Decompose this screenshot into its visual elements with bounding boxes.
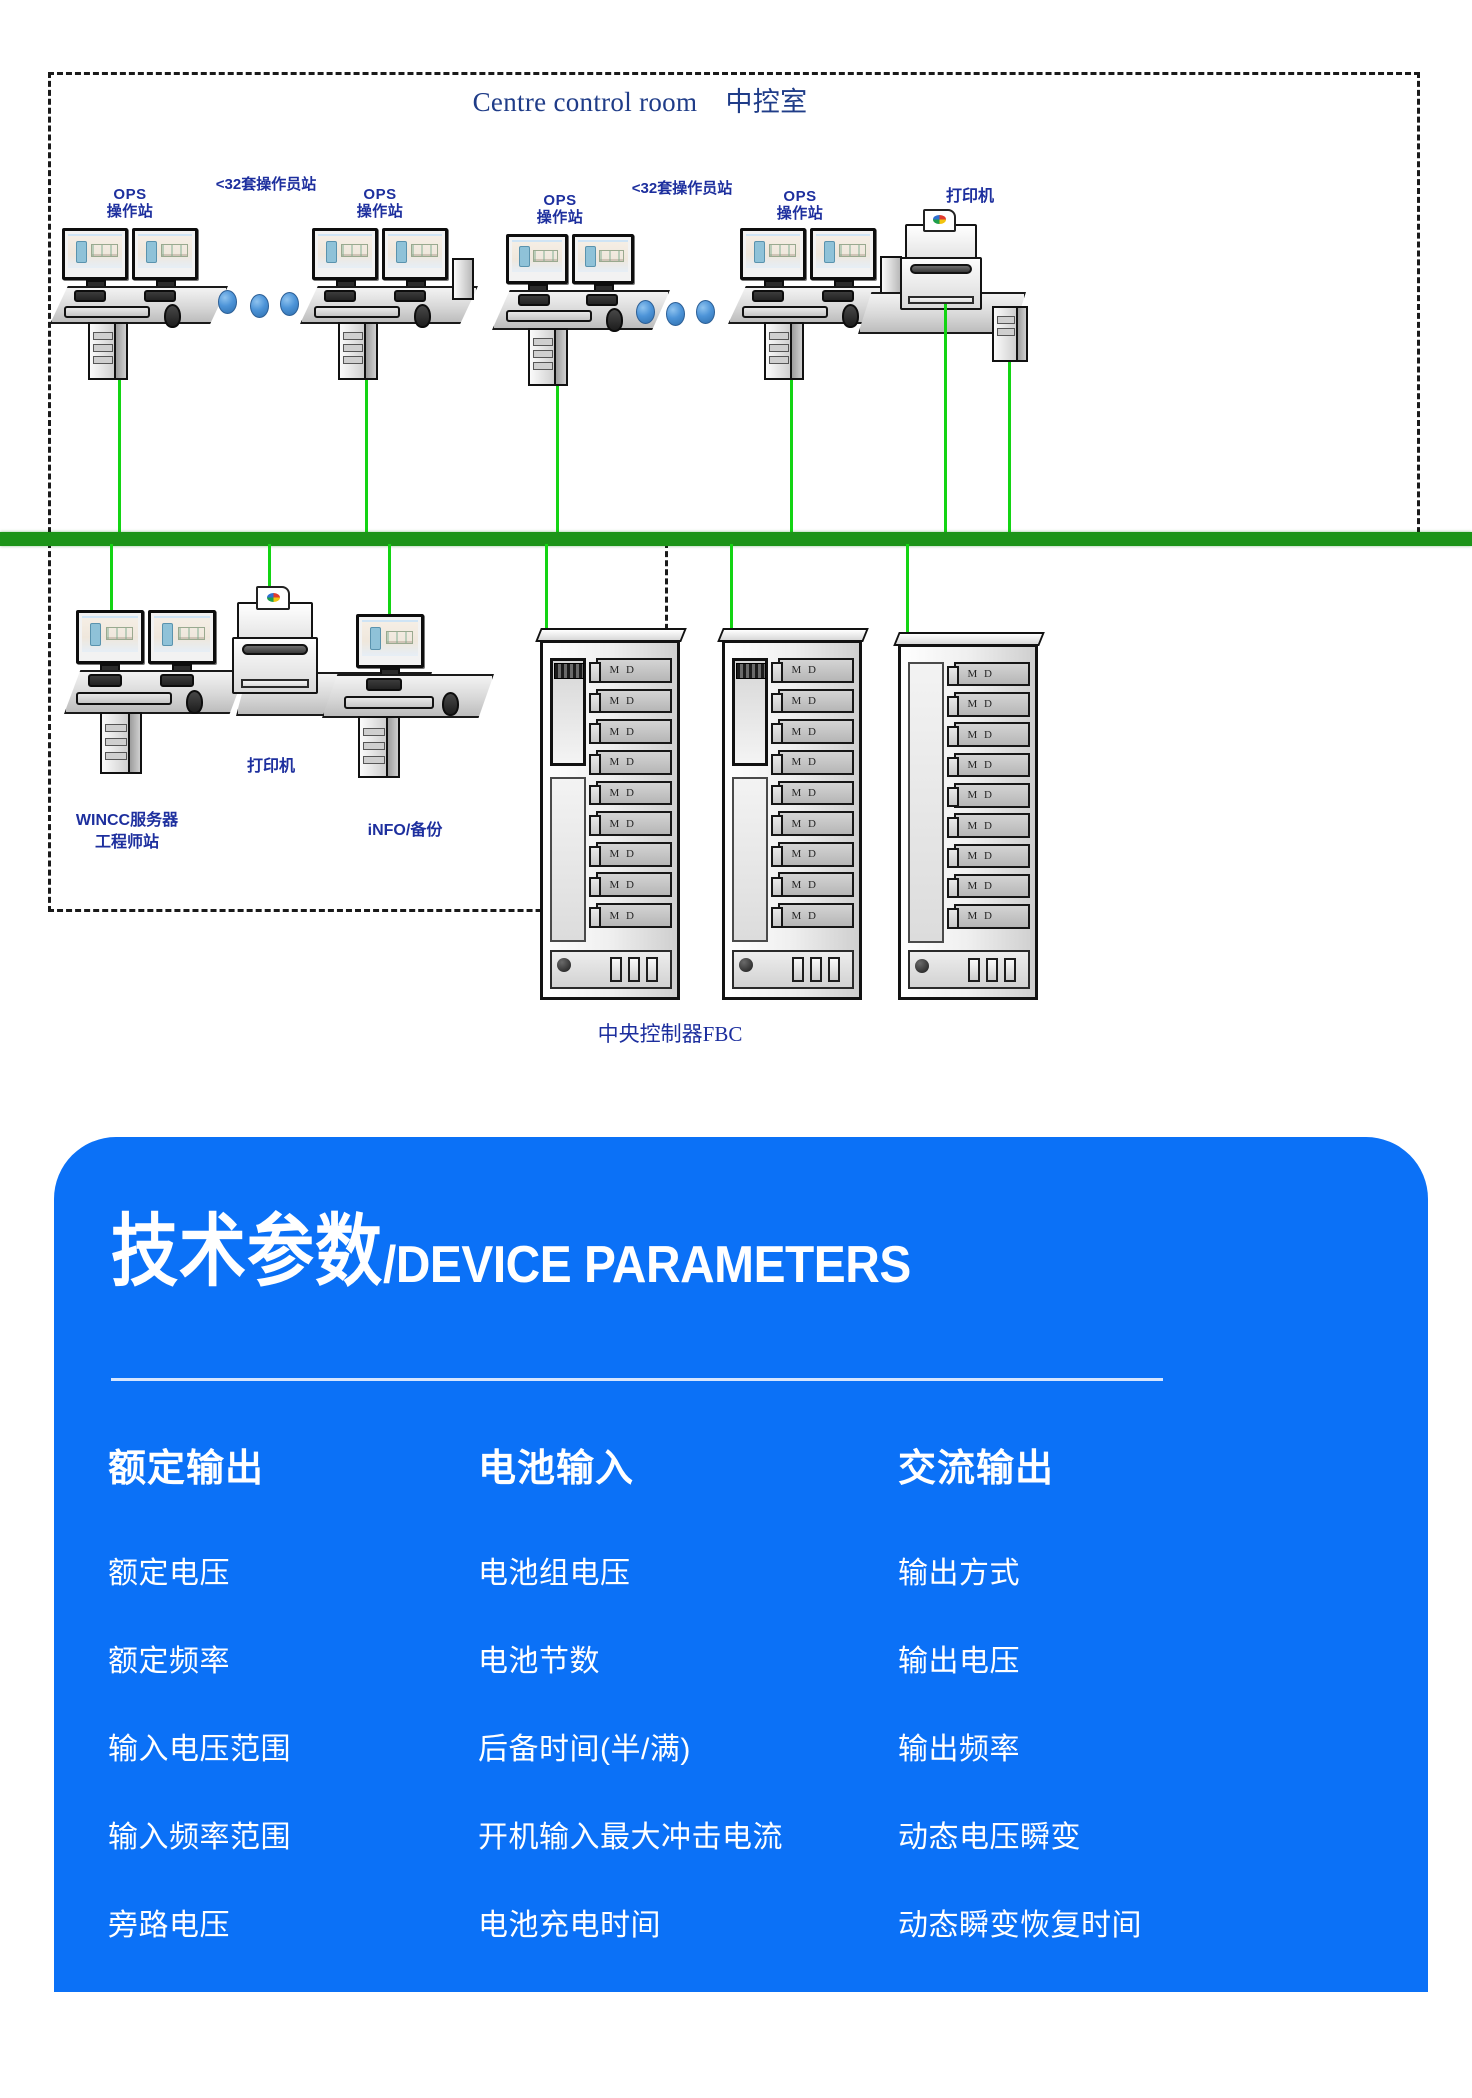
io-module: M D <box>596 903 672 928</box>
parameter-item: 电池充电时间 <box>478 1900 898 1944</box>
io-module-label: M D <box>609 756 635 768</box>
ellipsis-dot <box>280 292 299 316</box>
parameter-item: 电池节数 <box>478 1636 898 1680</box>
tower-side-panel <box>1016 308 1026 360</box>
io-module-label: M D <box>609 910 635 922</box>
column-heading: 额定输出 <box>108 1437 478 1492</box>
io-module-label: M D <box>967 698 993 710</box>
pc-tower <box>992 306 1028 362</box>
parameter-column-rated-output: 额定输出 额定电压 额定频率 输入电压范围 输入频率范围 旁路电压 <box>108 1437 478 1988</box>
mouse <box>442 692 459 716</box>
ellipsis-dot <box>250 294 269 318</box>
drive-bay <box>343 332 363 340</box>
io-module-stack: M D M D M D M D M D M D M D M D M D <box>778 658 854 928</box>
io-module: M D <box>778 719 854 744</box>
io-module: M D <box>596 750 672 775</box>
ellipsis-dot <box>696 300 715 324</box>
screen <box>138 234 192 268</box>
cabinet-group-label: 中央控制器FBC <box>530 1022 810 1046</box>
io-module: M D <box>778 872 854 897</box>
screen <box>746 234 800 268</box>
parameter-item: 动态瞬变恢复时间 <box>898 1900 1268 1944</box>
cabinet-base-panel <box>908 950 1030 989</box>
io-module: M D <box>596 689 672 714</box>
monitor <box>356 614 424 668</box>
keyboard-tray <box>76 692 172 705</box>
wincc-server-label: WINCC服务器 工程师站 <box>42 810 212 853</box>
io-module-label: M D <box>609 787 635 799</box>
io-module: M D <box>596 719 672 744</box>
drive-bay <box>93 332 113 340</box>
keyboard-tray <box>506 310 592 322</box>
keyboard-tray <box>344 696 434 709</box>
keyboard <box>324 290 356 302</box>
io-module-label: M D <box>791 879 817 891</box>
monitor <box>148 610 216 664</box>
parameter-item: 输出电压 <box>898 1636 1268 1680</box>
io-module-label: M D <box>967 668 993 680</box>
drive-bay <box>93 356 113 364</box>
drive-bay <box>769 344 789 352</box>
cabinet-top <box>717 628 868 642</box>
drive-bay <box>343 356 363 364</box>
network-drop-line <box>388 544 391 618</box>
io-module-label: M D <box>791 664 817 676</box>
ellipsis-dot <box>636 300 655 324</box>
keyboard <box>752 290 784 302</box>
keyboard-tray <box>314 306 400 318</box>
io-module: M D <box>954 662 1030 687</box>
cabinet-top <box>535 628 686 642</box>
cabinet-indicator <box>557 958 571 972</box>
parameter-item: 输出频率 <box>898 1724 1268 1768</box>
cabinet-rail <box>908 662 944 943</box>
mouse <box>606 308 623 332</box>
power-supply-module <box>732 658 768 766</box>
printer-top-label: 打印机 <box>900 188 1040 206</box>
mouse <box>164 304 181 328</box>
cabinet-indicator <box>739 958 753 972</box>
tower-side-panel <box>114 324 126 378</box>
parameter-list: 输出方式 输出电压 输出频率 动态电压瞬变 动态瞬变恢复时间 <box>898 1548 1268 1944</box>
drive-bay <box>769 356 789 364</box>
monitor <box>62 228 128 280</box>
pc-tower <box>358 716 400 778</box>
tower-side-panel <box>790 324 802 378</box>
pc-tower <box>764 322 804 380</box>
parameter-item: 电池组电压 <box>478 1548 898 1592</box>
keyboard <box>366 678 402 691</box>
drive-bay <box>533 350 553 358</box>
drive-bay <box>997 316 1015 324</box>
io-module-label: M D <box>967 910 993 922</box>
breaker-switch <box>646 957 658 981</box>
drive-bay <box>105 738 127 746</box>
parameter-column-battery-input: 电池输入 电池组电压 电池节数 后备时间(半/满) 开机输入最大冲击电流 电池充… <box>478 1437 898 1988</box>
io-module-label: M D <box>791 726 817 738</box>
printed-page-icon <box>256 586 290 610</box>
drive-bay <box>363 742 385 750</box>
io-module: M D <box>778 658 854 683</box>
column-heading: 交流输出 <box>898 1437 1268 1492</box>
drive-bay <box>769 332 789 340</box>
parameters-title: 技术参数 /DEVICE PARAMETERS <box>111 1205 957 1302</box>
io-module-label: M D <box>967 820 993 832</box>
drive-bay <box>363 756 385 764</box>
io-module-label: M D <box>609 879 635 891</box>
cabinet-base-panel <box>550 950 672 990</box>
tower-side-panel <box>554 330 566 384</box>
printer-label: 打印机 <box>206 758 336 776</box>
io-module: M D <box>596 811 672 836</box>
pc-tower <box>528 328 568 386</box>
screen <box>388 234 442 268</box>
io-module-label: M D <box>791 695 817 707</box>
monitor <box>572 234 634 284</box>
parameters-title-zh: 技术参数 <box>111 1188 383 1302</box>
network-drop-line <box>365 380 368 536</box>
drive-bay <box>105 752 127 760</box>
io-module-label: M D <box>967 789 993 801</box>
printer-control-panel <box>910 264 972 274</box>
controller-cabinet-1: M D M D M D M D M D M D M D M D M D <box>540 640 680 1000</box>
controller-cabinet-2: M D M D M D M D M D M D M D M D M D <box>722 640 862 1000</box>
io-module: M D <box>596 658 672 683</box>
io-module-label: M D <box>609 848 635 860</box>
breaker-switch <box>1004 958 1016 982</box>
monitor <box>312 228 378 280</box>
io-module-label: M D <box>791 818 817 830</box>
parameter-item: 后备时间(半/满) <box>478 1724 898 1768</box>
parameter-column-ac-output: 交流输出 输出方式 输出电压 输出频率 动态电压瞬变 动态瞬变恢复时间 <box>898 1437 1268 1988</box>
parameter-list: 电池组电压 电池节数 后备时间(半/满) 开机输入最大冲击电流 电池充电时间 <box>478 1548 898 1944</box>
info-backup-label: iNFO/备份 <box>330 822 480 840</box>
screen <box>816 234 870 268</box>
cabinet-rail <box>550 777 586 943</box>
breaker-switch <box>792 957 804 981</box>
breaker-switch <box>828 957 840 981</box>
parameter-item: 输入频率范围 <box>108 1812 478 1856</box>
parameter-item: 开机输入最大冲击电流 <box>478 1812 898 1856</box>
ops-label-2: OPS 操作站 <box>320 186 440 221</box>
io-module-label: M D <box>609 664 635 676</box>
breaker-switch <box>810 957 822 981</box>
controller-cabinet-3: M D M D M D M D M D M D M D M D M D <box>898 644 1038 1000</box>
io-module: M D <box>596 781 672 806</box>
tower-side-panel <box>364 324 376 378</box>
io-module-label: M D <box>967 759 993 771</box>
drive-bay <box>363 728 385 736</box>
parameter-item: 额定频率 <box>108 1636 478 1680</box>
tower-side-panel <box>386 718 398 776</box>
power-supply-module <box>550 658 586 766</box>
screen <box>578 240 628 272</box>
breaker-switch <box>610 957 622 981</box>
device-parameters-panel: 技术参数 /DEVICE PARAMETERS 额定输出 额定电压 额定频率 输… <box>54 1137 1428 1992</box>
cabinet-top <box>893 632 1044 646</box>
mouse <box>186 690 203 714</box>
drive-bay <box>533 338 553 346</box>
io-module: M D <box>596 842 672 867</box>
monitor <box>132 228 198 280</box>
cabinet-base-panel <box>732 950 854 990</box>
tower-side-panel <box>128 714 140 772</box>
io-module-label: M D <box>791 910 817 922</box>
keyboard <box>518 294 550 306</box>
network-drop-line <box>1008 362 1011 536</box>
keyboard <box>822 290 854 302</box>
printer-server-area <box>232 602 318 694</box>
keyboard <box>394 290 426 302</box>
io-module-label: M D <box>609 695 635 707</box>
parameter-list: 额定电压 额定频率 输入电压范围 输入频率范围 旁路电压 <box>108 1548 478 1944</box>
parameter-item: 动态电压瞬变 <box>898 1812 1268 1856</box>
capacity-note-2: <32套操作员站 <box>602 180 762 197</box>
io-module-label: M D <box>967 850 993 862</box>
drive-bay <box>93 344 113 352</box>
ellipsis-dot <box>218 290 237 314</box>
network-drop-line <box>790 380 793 536</box>
io-module: M D <box>954 753 1030 778</box>
parameters-title-en: /DEVICE PARAMETERS <box>383 1235 911 1295</box>
io-module: M D <box>954 722 1030 747</box>
screen <box>362 620 418 656</box>
network-drop-line <box>110 544 113 618</box>
monitor <box>810 228 876 280</box>
pc-tower <box>338 322 378 380</box>
breaker-switch <box>986 958 998 982</box>
io-module-label: M D <box>791 848 817 860</box>
keyboard-tray <box>742 306 828 318</box>
control-room-title: Centre control room 中控室 <box>320 80 960 119</box>
system-architecture-diagram: Centre control room 中控室 <32套操作员站 <32套操作员… <box>0 0 1472 1100</box>
mouse <box>842 304 859 328</box>
cabinet-indicator <box>915 959 929 973</box>
monitor <box>382 228 448 280</box>
network-switch <box>452 258 474 300</box>
mouse <box>414 304 431 328</box>
drive-bay <box>533 362 553 370</box>
drive-bay <box>343 344 363 352</box>
keyboard <box>74 290 106 302</box>
parameter-item: 额定电压 <box>108 1548 478 1592</box>
parameter-item: 输出方式 <box>898 1548 1268 1592</box>
screen <box>154 616 210 652</box>
keyboard <box>586 294 618 306</box>
keyboard <box>144 290 176 302</box>
screen <box>82 616 138 652</box>
paper-tray <box>908 296 974 304</box>
io-module: M D <box>954 813 1030 838</box>
network-drop-line <box>944 304 947 536</box>
network-drop-line <box>556 386 559 536</box>
printer-control-panel <box>242 644 307 655</box>
ops-label-3: OPS 操作站 <box>500 192 620 227</box>
io-module: M D <box>778 811 854 836</box>
title-divider <box>111 1378 1163 1381</box>
io-module: M D <box>778 842 854 867</box>
monitor <box>76 610 144 664</box>
io-module-label: M D <box>791 756 817 768</box>
io-module: M D <box>954 783 1030 808</box>
io-module-stack: M D M D M D M D M D M D M D M D M D <box>596 658 672 928</box>
paper-tray <box>241 679 310 687</box>
io-module: M D <box>778 903 854 928</box>
io-module: M D <box>778 750 854 775</box>
io-module-label: M D <box>609 726 635 738</box>
parameter-item: 输入电压范围 <box>108 1724 478 1768</box>
io-module-label: M D <box>967 729 993 741</box>
printer-top <box>900 224 982 310</box>
io-module-stack: M D M D M D M D M D M D M D M D M D <box>954 662 1030 929</box>
screen <box>512 240 562 272</box>
breaker-switch <box>968 958 980 982</box>
io-module: M D <box>596 872 672 897</box>
io-module-label: M D <box>791 787 817 799</box>
keyboard <box>88 674 122 687</box>
monitor <box>740 228 806 280</box>
io-module: M D <box>954 904 1030 929</box>
column-heading: 电池输入 <box>478 1437 898 1492</box>
ops-label-4: OPS 操作站 <box>740 188 860 223</box>
io-module: M D <box>954 874 1030 899</box>
drive-bay <box>997 328 1015 336</box>
breaker-switch <box>628 957 640 981</box>
cabinet-rail <box>732 777 768 943</box>
screen <box>68 234 122 268</box>
network-drop-line <box>118 380 121 536</box>
parameter-item: 旁路电压 <box>108 1900 478 1944</box>
parameter-columns: 额定输出 额定电压 额定频率 输入电压范围 输入频率范围 旁路电压 电池输入 电… <box>108 1437 1388 1988</box>
keyboard-tray <box>64 306 150 318</box>
io-module-label: M D <box>967 880 993 892</box>
pc-tower <box>100 712 142 774</box>
monitor <box>506 234 568 284</box>
keyboard <box>160 674 194 687</box>
control-network-bus <box>0 532 1472 546</box>
screen <box>318 234 372 268</box>
drive-bay <box>105 724 127 732</box>
ellipsis-dot <box>666 302 685 326</box>
ops-label-1: OPS 操作站 <box>70 186 190 221</box>
io-module: M D <box>954 692 1030 717</box>
pc-tower <box>88 322 128 380</box>
io-module: M D <box>954 844 1030 869</box>
io-module: M D <box>778 781 854 806</box>
printed-page-icon <box>923 209 956 231</box>
io-module-label: M D <box>609 818 635 830</box>
io-module: M D <box>778 689 854 714</box>
